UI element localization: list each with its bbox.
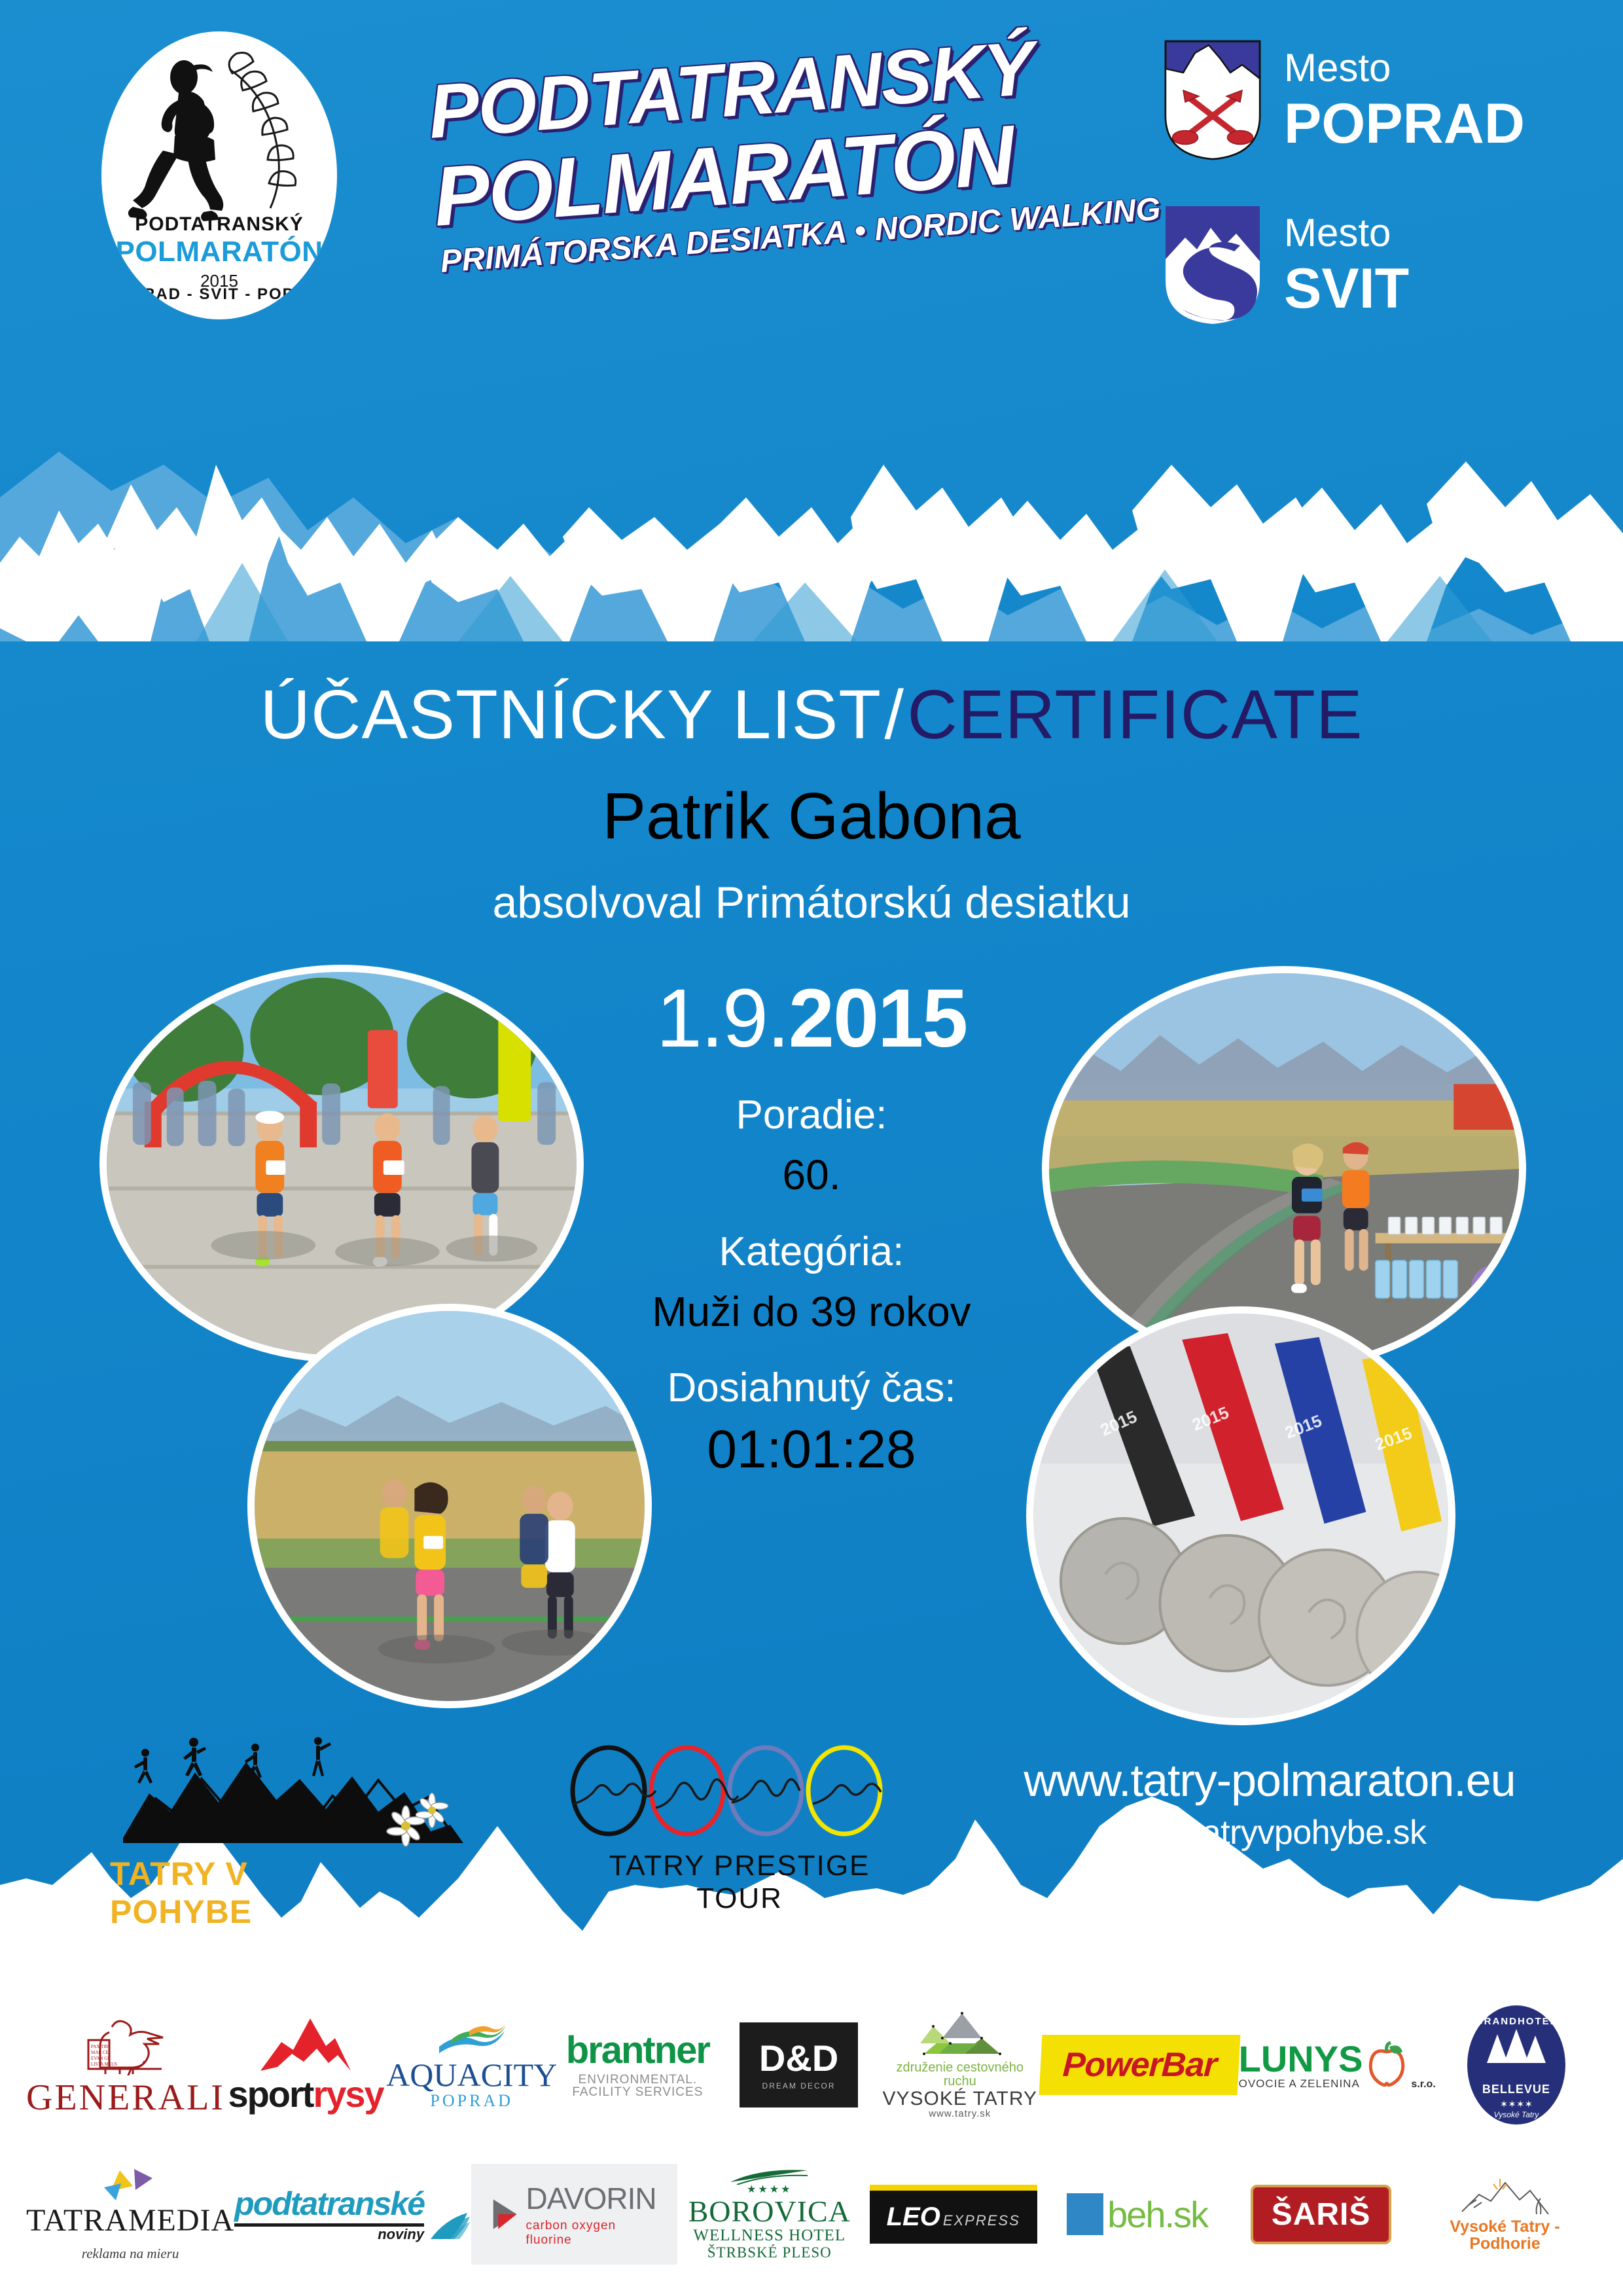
sponsor-powerbar-label: PowerBar [1061,2045,1217,2085]
sponsor-behsk-label: beh.sk [1107,2193,1207,2236]
paper-fan-icon [429,2210,471,2242]
sponsor-sportrysy-label-red: rysy [313,2073,383,2115]
sponsor-podtatranske-tagline: noviny [234,2227,424,2242]
sponsor-lunys: LUNYS OVOCIE A ZELENINA s.r.o. [1239,1990,1436,2140]
event-title: PODTATRANSKÝ POLMARATÓN PRIMÁTORSKA DESI… [429,27,1149,302]
tatry-prestige-tour-label: TATRY PRESTIGE TOUR [563,1850,916,1915]
sponsor-vysoke-tatry: združenie cestovného ruchu VYSOKÉ TATRY … [880,1990,1041,2140]
sponsor-sportrysy: sportrysy [225,1990,386,2140]
url-secondary[interactable]: www.tatryvpohybe.sk [955,1813,1584,1852]
emblem-line2: POLMARATÓN [101,236,337,268]
sponsor-row-2: TATRAMEDIA reklama na mieru podtatranské… [26,2145,1597,2283]
winged-lion-icon: PAX TIBIMAR CE EVAN GELISTA MEUS [83,2013,168,2075]
sponsor-saris-label: ŠARIŠ [1272,2197,1371,2233]
tatry-v-pohybe-label: TATRY V POHYBE [110,1855,398,1931]
svg-text:LISTA MEUS: LISTA MEUS [91,2062,117,2067]
sponsor-tatramedia-label: TATRAMEDIA [26,2204,234,2237]
sponsor-borovica-line3: ŠTRBSKÉ PLESO [688,2245,851,2261]
emblem-route: POPRAD - SVIT - POPRAD [101,285,337,304]
certificate-heading-separator: / [885,676,904,753]
completion-text: absolvoval Primátorskú desiatku [0,877,1623,928]
sponsor-dd-label: D&D [759,2039,838,2078]
sponsor-bellevue-stars: ✶✶✶✶ [1467,2098,1565,2110]
sponsor-davorin-label: DAVORIN [526,2181,658,2216]
sponsor-sportrysy-label-dark: sport [228,2073,313,2115]
sponsor-bellevue-label: BELLEVUE [1467,2083,1565,2096]
sponsor-bellevue: GRANDHOTEL BELLEVUE ✶✶✶✶ Vysoké Tatry [1436,1990,1597,2140]
poprad-coat-of-arms-icon [1164,39,1262,161]
sketch-mountain-icon [1459,2176,1551,2218]
sponsor-dd-tagline: DREAM DECOR [759,2082,838,2090]
sponsor-generali: PAX TIBIMAR CE EVAN GELISTA MEUS GENERAL… [26,1990,225,2140]
svg-text:MAR CE: MAR CE [91,2050,109,2055]
sponsor-vt-tagline: združenie cestovného ruchu [880,2061,1041,2089]
sponsor-podtatranske-noviny: podtatranské noviny [234,2145,471,2283]
tatry-prestige-tour-logo: TATRY PRESTIGE TOUR [556,1741,923,1905]
sponsor-davorin: DAVORIN carbon oxygen fluorine [471,2145,677,2283]
sponsor-lunys-tagline: OVOCIE A ZELENINA [1239,2078,1363,2090]
sponsor-borovica-line2: WELLNESS HOTEL [688,2227,851,2244]
sponsor-podtatranske-label: podtatranské [234,2187,424,2227]
sponsor-vt-label: VYSOKÉ TATRY [880,2089,1041,2109]
sponsor-vt-url[interactable]: www.tatry.sk [880,2109,1041,2119]
triangles-icon [100,2168,160,2203]
svg-text:PAX TIBI: PAX TIBI [91,2044,110,2049]
play-arrow-icon [491,2197,519,2231]
race-date-year: 2015 [789,972,967,1064]
sponsor-dd: D&D DREAM DECOR [718,1990,879,2140]
sponsor-borovica-label: BOROVICA [688,2196,851,2227]
three-peaks-icon [1467,2026,1565,2079]
sponsor-vysoke-tatry-podhorie: Vysoké Tatry - Podhorie [1413,2145,1597,2283]
website-links: www.tatry-polmaraton.eu www.tatryvpohybe… [955,1754,1584,1852]
runner-square-icon [1067,2193,1103,2235]
prestige-rings-icon [556,1741,923,1852]
sponsor-aquacity-label: AQUACITY [386,2058,557,2092]
certificate-page: PODTATRANSKÝ POLMARATÓN 2015 POPRAD - SV… [0,0,1623,2296]
sponsor-tatramedia-tagline: reklama na mieru [26,2246,234,2261]
mountain-silhouette-band [0,367,1623,641]
city-prefix-poprad: Mesto [1284,48,1525,88]
sponsor-lunys-label: LUNYS [1239,2040,1363,2079]
sponsor-row-1: PAX TIBIMAR CE EVAN GELISTA MEUS GENERAL… [26,1990,1597,2140]
rank-value: 60. [550,1152,1073,1198]
sponsor-aquacity-city: POPRAD [386,2092,557,2109]
photo-medals: 2015 2015 2015 2015 [1026,1306,1455,1725]
sponsor-brantner-tagline: ENVIRONMENTAL. FACILITY SERVICES [557,2073,718,2100]
city-poprad-block: Mesto POPRAD [1164,39,1525,161]
sponsor-generali-label: GENERALI [26,2079,225,2117]
category-label: Kategória: [550,1230,1073,1274]
race-date: 1.9.2015 [550,975,1073,1062]
sponsor-aquacity: AQUACITY POPRAD [386,1990,557,2140]
participant-name: Patrik Gabona [0,779,1623,854]
sponsor-brantner-label: brantner [557,2031,718,2071]
emblem-line1: PODTATRANSKÝ [101,213,337,236]
category-value: Muži do 39 rokov [550,1289,1073,1335]
url-primary[interactable]: www.tatry-polmaraton.eu [955,1754,1584,1806]
sponsor-leo-express: LEO EXPRESS [861,2145,1045,2283]
rank-label: Poradie: [550,1093,1073,1138]
running-figure-icon [101,43,337,226]
header: PODTATRANSKÝ POLMARATÓN 2015 POPRAD - SV… [0,0,1623,367]
photo-runners-field [247,1304,652,1708]
svg-text:EVAN GE: EVAN GE [91,2056,111,2061]
mountain-range-icon [0,367,1623,641]
city-name-poprad: POPRAD [1284,96,1525,152]
sponsor-podhorie-label: Vysoké Tatry - Podhorie [1413,2218,1597,2253]
result-details: 1.9.2015 Poradie: 60. Kategória: Muži do… [550,975,1073,1479]
sponsor-behsk: beh.sk [1045,2145,1229,2283]
svit-coat-of-arms-icon [1164,204,1262,326]
event-emblem: PODTATRANSKÝ POLMARATÓN 2015 POPRAD - SV… [101,31,337,319]
sponsor-saris: ŠARIŠ [1229,2145,1413,2283]
mountain-sports-icon [110,1733,476,1857]
city-svit-block: Mesto SVIT [1164,204,1409,326]
sponsor-strip: PAX TIBIMAR CE EVAN GELISTA MEUS GENERAL… [0,1977,1623,2296]
sponsor-brantner: brantner ENVIRONMENTAL. FACILITY SERVICE… [557,1990,718,2140]
city-name-svit: SVIT [1284,260,1409,317]
sponsor-leo-label: LEO [887,2202,940,2232]
red-mountain-icon [257,2016,355,2072]
apple-icon [1366,2041,1407,2089]
polygon-mountain-icon [919,2011,1001,2058]
certificate-heading-en: CERTIFICATE [907,676,1363,753]
sponsor-tatramedia: TATRAMEDIA reklama na mieru [26,2145,234,2283]
photo-race-start [99,965,584,1363]
pine-branch-icon [728,2168,811,2185]
tatry-v-pohybe-logo: TATRY V POHYBE [110,1733,476,1897]
certificate-heading: ÚČASTNÍCKY LIST / CERTIFICATE [0,675,1623,755]
sponsor-powerbar: PowerBar [1041,1990,1239,2140]
race-date-daymonth: 1.9. [656,972,789,1064]
time-label: Dosiahnutý čas: [550,1366,1073,1410]
city-prefix-svit: Mesto [1284,213,1409,253]
certificate-heading-sk: ÚČASTNÍCKY LIST [260,676,882,753]
sponsor-borovica: ★★★★ BOROVICA WELLNESS HOTEL ŠTRBSKÉ PLE… [677,2145,861,2283]
sponsor-davorin-tagline: carbon oxygen fluorine [526,2219,658,2248]
sponsor-bellevue-bottom: Vysoké Tatry [1467,2110,1565,2119]
water-wave-icon [433,2020,511,2054]
sponsor-lunys-suffix: s.r.o. [1411,2079,1435,2090]
sponsor-bellevue-top: GRANDHOTEL [1467,2016,1565,2027]
sponsor-leo-tagline: EXPRESS [943,2212,1020,2229]
